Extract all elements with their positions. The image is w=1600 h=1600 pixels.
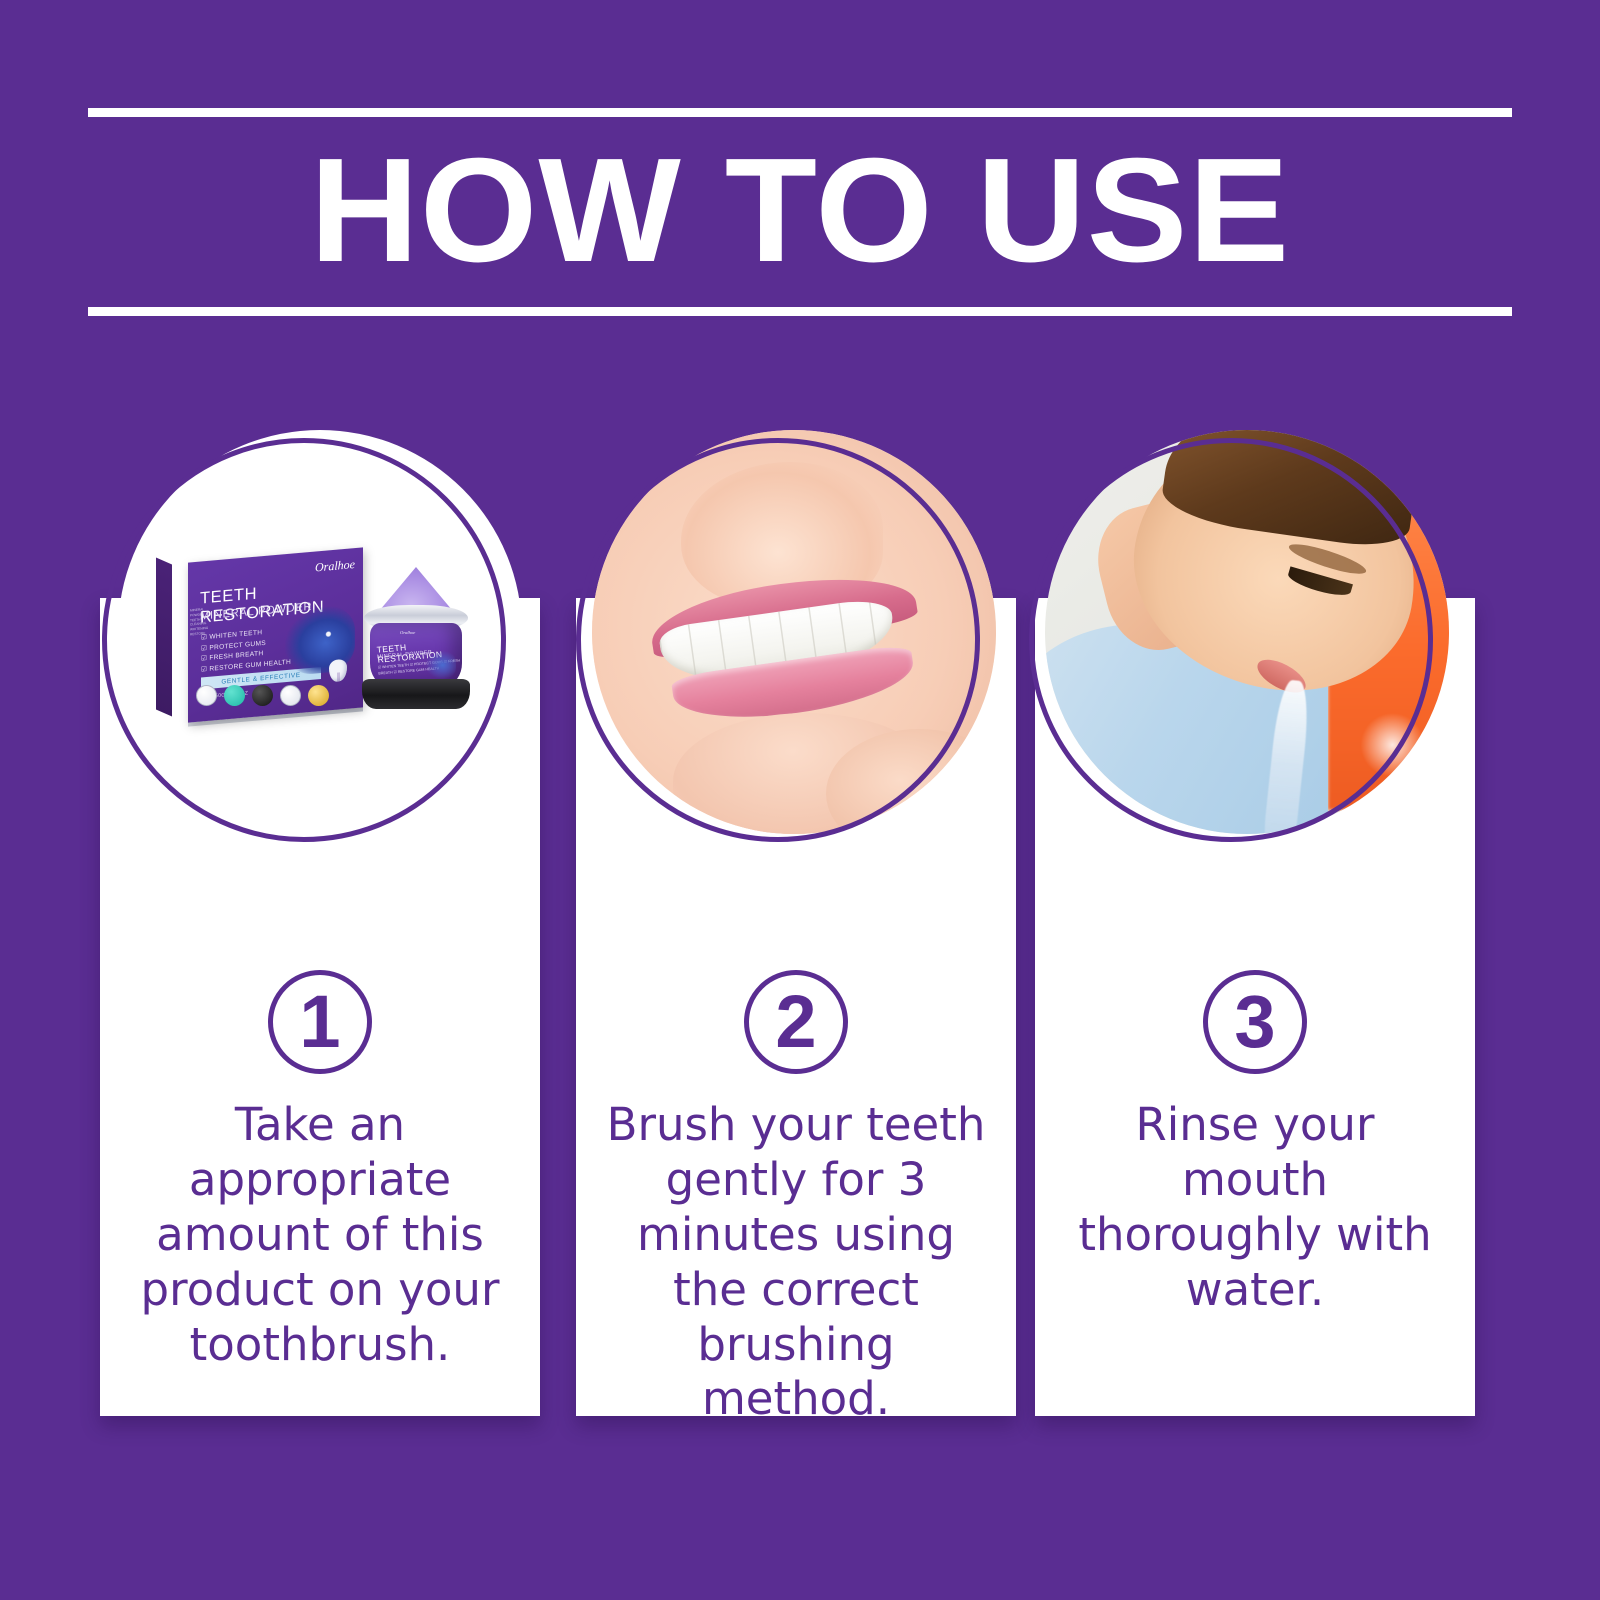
- package-side-print: MINERAL POWDER TEETH CLEANING WHITENING …: [190, 608, 200, 638]
- step-number-badge-3: 3: [1203, 970, 1307, 1074]
- step-image-circle-1: MINERAL POWDER TEETH CLEANING WHITENING …: [118, 430, 522, 834]
- smiling-mouth-white-teeth-photo: [592, 430, 996, 834]
- step-number-badge-2: 2: [744, 970, 848, 1074]
- step-image-circle-3: [1045, 430, 1449, 834]
- step-number-badge-1: 1: [268, 970, 372, 1074]
- seal-icon: [308, 685, 329, 706]
- certification-seals: [196, 685, 329, 706]
- jar-base-cap: [362, 679, 470, 709]
- step-image-circle-2: [592, 430, 996, 834]
- product-jar: Oralhoe TEETH RESTORATION MINERAL POWDER…: [362, 567, 470, 707]
- seal-icon: [280, 685, 301, 706]
- step-caption-3: Rinse your mouth thoroughly with water.: [1061, 1098, 1449, 1318]
- background-highlight: [1360, 713, 1425, 778]
- woman-rinsing-mouth-with-water-photo: [1045, 430, 1449, 834]
- product-package-and-jar-photo: MINERAL POWDER TEETH CLEANING WHITENING …: [118, 430, 522, 834]
- title-rule-bottom: [88, 307, 1512, 316]
- product-composition: MINERAL POWDER TEETH CLEANING WHITENING …: [170, 537, 470, 727]
- jar-crystal-graphic-icon: [426, 651, 456, 679]
- tooth-graphic-icon: [329, 659, 347, 683]
- jar-body-label: Oralhoe TEETH RESTORATION MINERAL POWDER…: [370, 623, 462, 685]
- steps-container: 1 Take an appropriate amount of this pro…: [0, 430, 1600, 1440]
- step-caption-1: Take an appropriate amount of this produ…: [126, 1098, 514, 1372]
- seal-icon: [196, 685, 217, 706]
- page-title: HOW TO USE: [74, 117, 1526, 307]
- package-side-panel: [156, 557, 172, 716]
- jar-brand: Oralhoe: [400, 630, 415, 635]
- package-feature-list: ☑ WHITEN TEETH ☑ PROTECT GUMS ☑ FRESH BR…: [201, 626, 291, 677]
- seal-icon: [252, 685, 273, 706]
- title-rule-top: [88, 108, 1512, 117]
- header: HOW TO USE: [88, 108, 1512, 316]
- seal-icon: [224, 685, 245, 706]
- step-caption-2: Brush your teeth gently for 3 minutes us…: [602, 1098, 990, 1427]
